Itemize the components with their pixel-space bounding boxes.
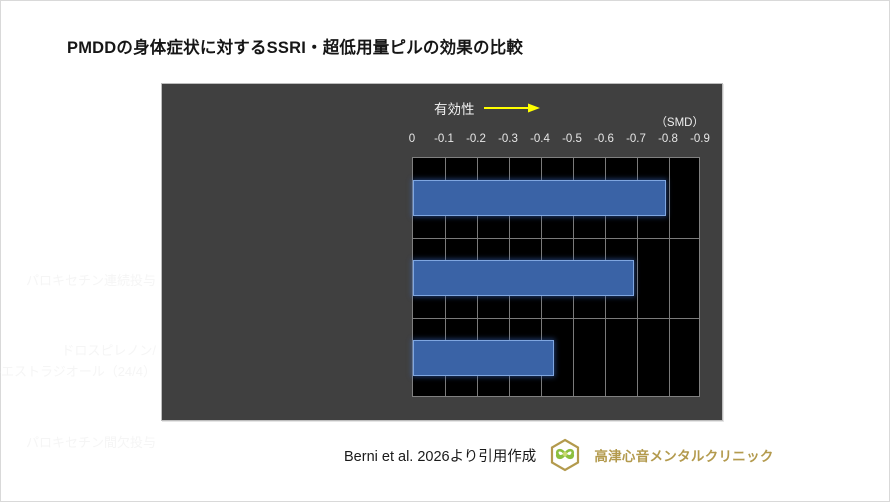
citation-text: Berni et al. 2026より引用作成 [344,445,536,466]
category-label-2: パロキセチン間欠投与 [26,432,156,453]
category-label-line: エチニルエストラジオール（24/4） [0,361,156,382]
slide-canvas: PMDDの身体症状に対するSSRI・超低用量ピルの効果の比較 有効性 （SMD）… [0,0,890,502]
horizontal-gridline [413,238,699,239]
chart-panel: 有効性 （SMD） 0-0.1-0.2-0.3-0.4-0.5-0.6-0.7-… [161,83,723,421]
category-label-line: ドロスピレノン/ [0,340,156,361]
bar-1 [413,260,634,296]
vertical-gridline [669,158,670,396]
x-tick-label-3: -0.3 [498,133,518,145]
efficacy-annotation: 有効性 [434,98,540,118]
x-tick-label-0: 0 [409,133,415,145]
footer: Berni et al. 2026より引用作成 高津心音メンタルクリニック [344,438,774,472]
category-label-1: ドロスピレノン/エチニルエストラジオール（24/4） [0,340,156,382]
x-tick-label-4: -0.4 [530,133,550,145]
category-label-line: パロキセチン連続投与 [26,270,156,291]
axis-unit-label: （SMD） [655,114,704,130]
x-tick-label-6: -0.6 [594,133,614,145]
plot-area [412,157,700,397]
category-label-0: パロキセチン連続投与 [26,270,156,291]
x-tick-label-8: -0.8 [658,133,678,145]
clover-hexagon-logo-icon [548,438,582,472]
x-tick-label-1: -0.1 [434,133,454,145]
x-tick-label-9: -0.9 [690,133,710,145]
x-tick-label-7: -0.7 [626,133,646,145]
bar-2 [413,340,554,376]
category-label-line: パロキセチン間欠投与 [26,432,156,453]
x-tick-label-2: -0.2 [466,133,486,145]
horizontal-gridline [413,318,699,319]
x-tick-label-5: -0.5 [562,133,582,145]
efficacy-label: 有効性 [434,98,475,118]
bar-0 [413,180,666,216]
clinic-name: 高津心音メンタルクリニック [594,445,773,465]
page-title: PMDDの身体症状に対するSSRI・超低用量ピルの効果の比較 [67,34,523,58]
arrow-right-icon [484,102,540,114]
